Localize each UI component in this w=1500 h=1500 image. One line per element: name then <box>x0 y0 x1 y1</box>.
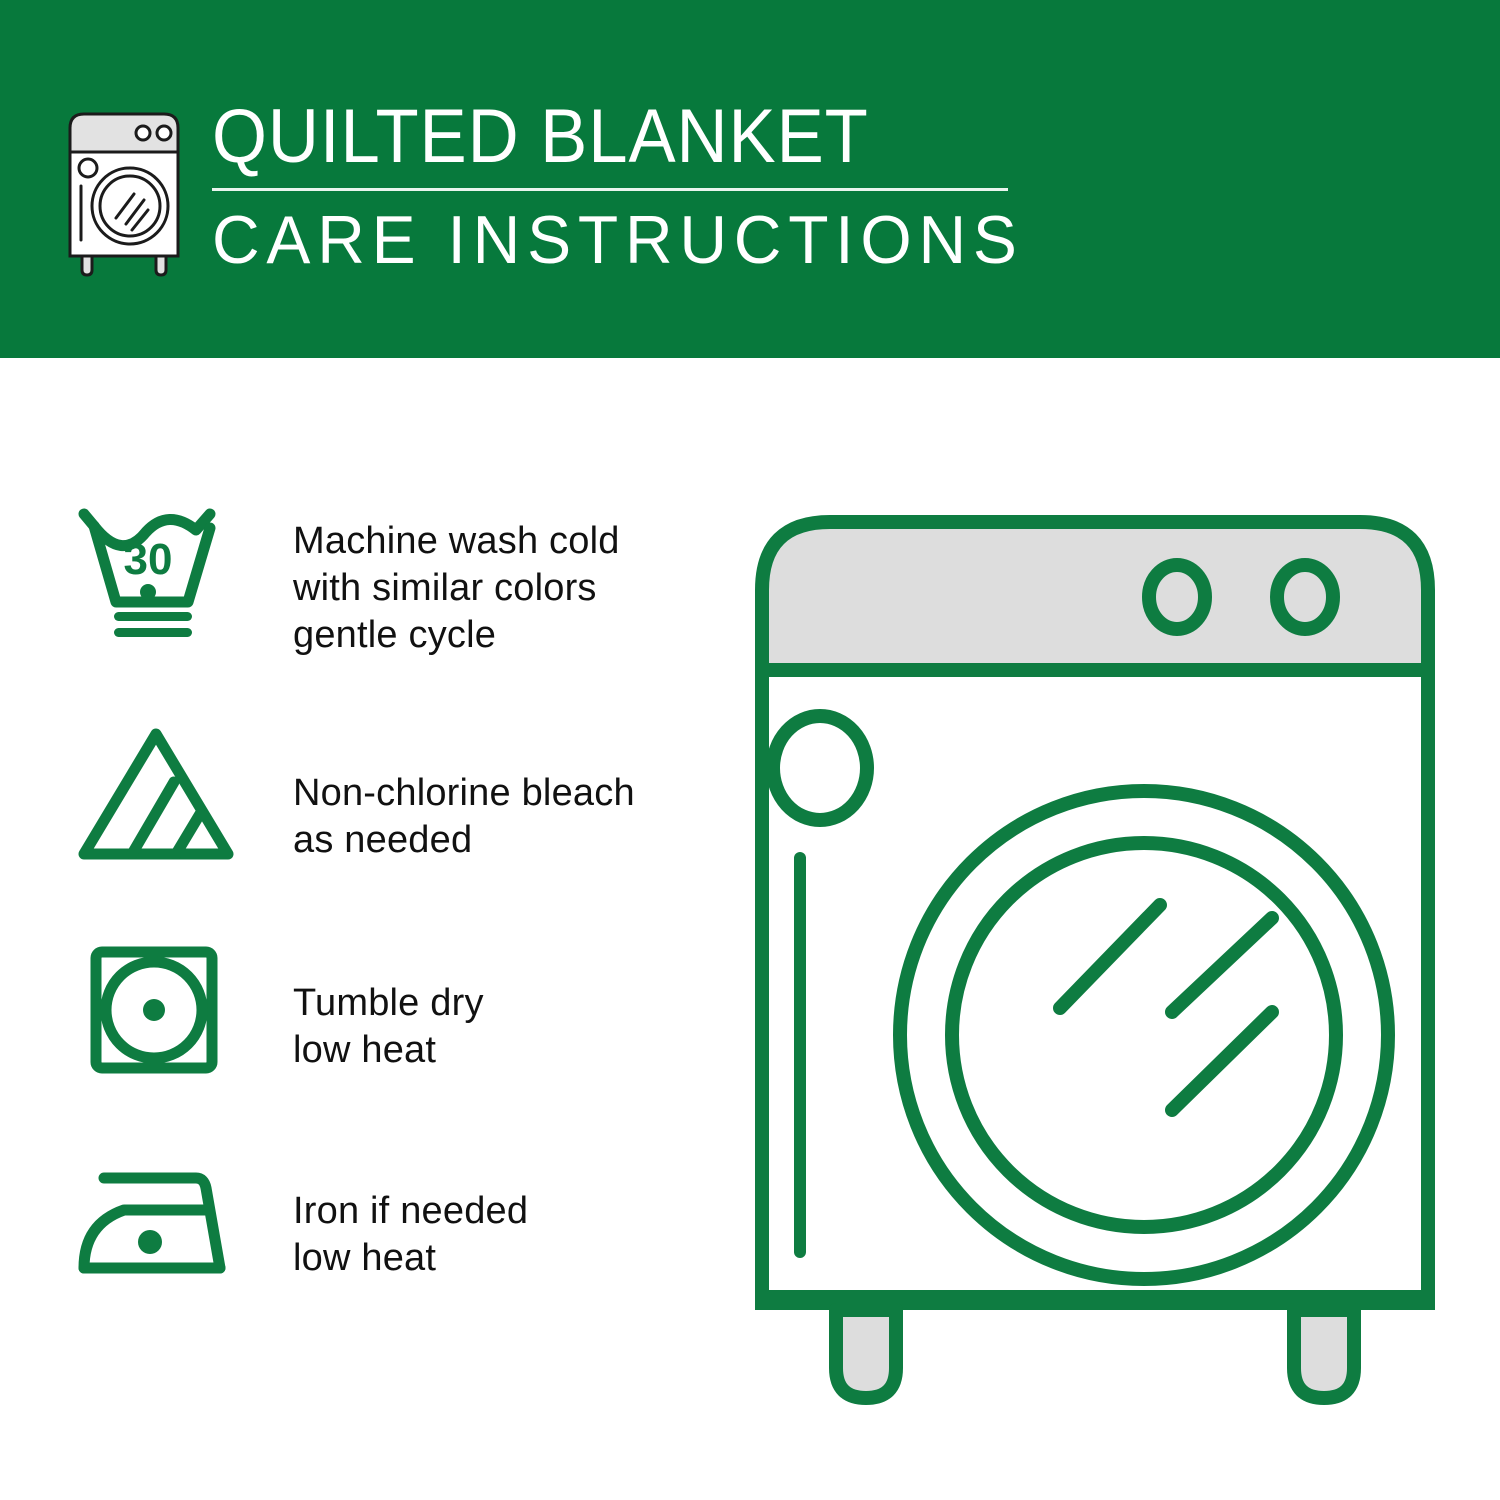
care-symbol-wrapper <box>70 720 245 868</box>
drum-outer-ring <box>900 791 1388 1279</box>
care-label-tumble-dry: Tumble dry low heat <box>293 940 484 1074</box>
page-subtitle: CARE INSTRUCTIONS <box>212 203 1024 277</box>
care-row-iron: Iron if needed low heat <box>70 1160 710 1330</box>
care-instructions-page: QUILTED BLANKET CARE INSTRUCTIONS 30 <box>0 0 1500 1500</box>
care-row-tumble-dry: Tumble dry low heat <box>70 940 710 1160</box>
iron-low-heat-icon <box>70 1160 242 1286</box>
care-symbol-wrapper <box>70 1160 245 1286</box>
tumble-dry-low-heat-icon <box>70 940 242 1080</box>
machine-leg-right <box>1294 1310 1354 1398</box>
page-header: QUILTED BLANKET CARE INSTRUCTIONS <box>0 0 1500 358</box>
wash-temperature-value: 30 <box>124 535 173 584</box>
care-instruction-list: 30 Machine wash cold with similar colors… <box>70 500 710 1330</box>
drum-slash-marks <box>1060 905 1272 1110</box>
care-label-machine-wash: Machine wash cold with similar colors ge… <box>293 500 620 659</box>
machine-leg-left <box>836 1310 896 1398</box>
non-chlorine-bleach-triangle-icon <box>70 720 242 868</box>
title-block: QUILTED BLANKET CARE INSTRUCTIONS <box>212 96 1049 277</box>
care-symbol-wrapper <box>70 940 245 1080</box>
front-load-washing-machine-illustration <box>740 500 1450 1420</box>
care-row-machine-wash: 30 Machine wash cold with similar colors… <box>70 500 710 720</box>
care-symbol-wrapper: 30 <box>70 500 245 640</box>
title-divider <box>212 188 1008 191</box>
care-label-bleach: Non-chlorine bleach as needed <box>293 720 635 864</box>
header-content: QUILTED BLANKET CARE INSTRUCTIONS <box>60 96 1049 278</box>
care-row-bleach: Non-chlorine bleach as needed <box>70 720 710 940</box>
indicator-light-circle <box>773 716 867 820</box>
page-title: QUILTED BLANKET <box>212 96 990 178</box>
washing-machine-logo-icon <box>60 106 188 278</box>
drum-inner-ring <box>952 843 1336 1227</box>
care-label-iron: Iron if needed low heat <box>293 1160 528 1282</box>
wash-basin-30-gentle-icon: 30 <box>70 500 242 640</box>
